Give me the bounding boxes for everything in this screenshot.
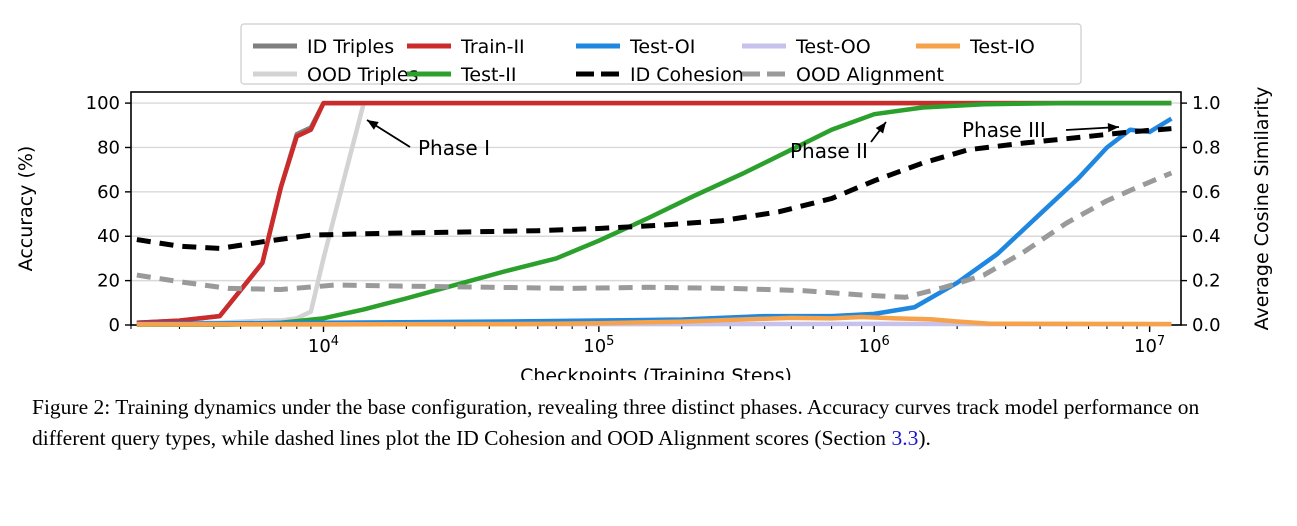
- annotation-phase-ii: Phase II: [790, 139, 868, 163]
- svg-text:100: 100: [86, 93, 120, 114]
- svg-text:40: 40: [97, 226, 120, 247]
- svg-text:1.0: 1.0: [1192, 93, 1221, 114]
- svg-text:Accuracy (%): Accuracy (%): [15, 146, 37, 272]
- svg-text:Average Cosine Similarity: Average Cosine Similarity: [1251, 87, 1273, 331]
- svg-text:Checkpoints (Training Steps): Checkpoints (Training Steps): [520, 365, 792, 380]
- svg-text:0: 0: [109, 315, 120, 336]
- legend-label-test-ii: Test-II: [460, 64, 516, 86]
- legend-label-id-cohesion: ID Cohesion: [630, 64, 744, 86]
- figure-caption: Figure 2: Training dynamics under the ba…: [32, 392, 1264, 454]
- annotation-phase-iii: Phase III: [962, 118, 1046, 142]
- svg-text:104: 104: [308, 334, 339, 357]
- svg-text:20: 20: [97, 271, 120, 292]
- svg-text:0.2: 0.2: [1192, 271, 1221, 292]
- svg-text:80: 80: [97, 137, 120, 158]
- svg-text:0.0: 0.0: [1192, 315, 1221, 336]
- legend-label-test-oo: Test-OO: [795, 36, 871, 58]
- svg-text:60: 60: [97, 182, 120, 203]
- svg-text:0.8: 0.8: [1192, 137, 1221, 158]
- legend-label-ood-triples: OOD Triples: [307, 64, 418, 86]
- svg-text:107: 107: [1134, 334, 1165, 357]
- figure-2-chart: 1041051061070204060801000.00.20.40.60.81…: [0, 0, 1297, 380]
- legend-label-id-triples: ID Triples: [307, 36, 394, 58]
- svg-text:0.4: 0.4: [1192, 226, 1221, 247]
- svg-text:0.6: 0.6: [1192, 182, 1221, 203]
- legend-label-ood-alignment: OOD Alignment: [796, 64, 944, 86]
- annotation-phase-i: Phase I: [418, 136, 490, 160]
- caption-text-prefix: Figure 2: Training dynamics under the ba…: [32, 395, 1199, 450]
- svg-text:105: 105: [583, 334, 614, 357]
- legend-label-test-oi: Test-OI: [629, 36, 695, 58]
- section-link-3-3[interactable]: 3.3: [891, 426, 918, 450]
- caption-text-suffix: ).: [918, 426, 931, 450]
- svg-text:106: 106: [859, 334, 890, 357]
- legend-label-train-ii: Train-II: [460, 36, 525, 58]
- legend-label-test-io: Test-IO: [969, 36, 1035, 58]
